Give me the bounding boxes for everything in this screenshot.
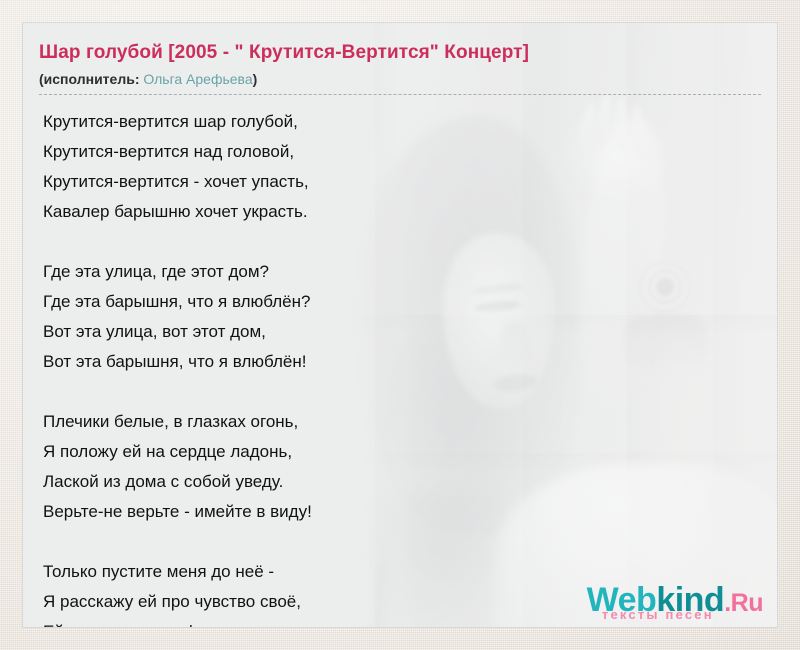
song-card: Шар голубой [2005 - " Крутится-Вертится"… <box>22 22 778 628</box>
logo-text-ru: .Ru <box>724 589 763 617</box>
artist-link[interactable]: Ольга Арефьева <box>143 71 252 87</box>
site-logo[interactable]: Webkind.Ru тексты песен <box>587 583 763 621</box>
byline-close-paren: ) <box>253 71 258 87</box>
byline: (исполнитель: Ольга Арефьева) <box>39 70 761 88</box>
lyrics-text: Крутится-вертится шар голубой, Крутится-… <box>43 107 761 628</box>
page-title: Шар голубой [2005 - " Крутится-Вертится"… <box>39 41 761 65</box>
header-divider <box>39 94 761 95</box>
song-content: Шар голубой [2005 - " Крутится-Вертится"… <box>23 23 777 628</box>
byline-label: (исполнитель: <box>39 71 143 87</box>
